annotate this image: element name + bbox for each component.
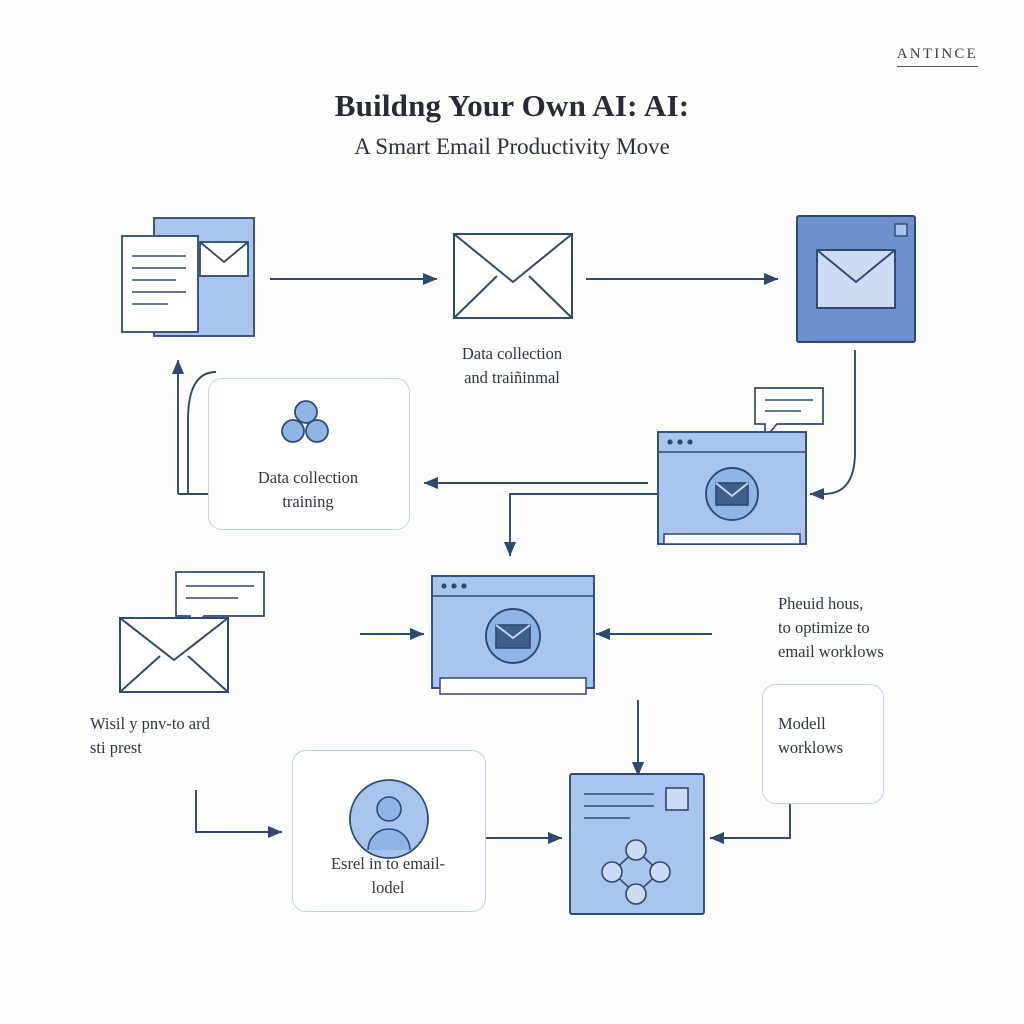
caption-predict-hours-optimize: Pheuid hous, to optimize to email worklo… bbox=[778, 592, 988, 664]
documents-stack bbox=[118, 214, 273, 349]
envelope-chat bbox=[118, 570, 266, 703]
envelope-outline-icon bbox=[452, 232, 574, 322]
browser-mail-center bbox=[430, 574, 596, 705]
caption-insert-into-email-model: Esrel in to email- lodel bbox=[296, 852, 480, 900]
caption-visually-forward: Wisil y pnv-to ard sti prest bbox=[90, 712, 300, 760]
brand-wordmark: ANTINCE bbox=[897, 46, 978, 67]
caption-model-workflows: Modell worklows bbox=[778, 712, 898, 760]
network-doc bbox=[568, 772, 706, 921]
mail-window-dark bbox=[795, 214, 917, 349]
caption-data-collection-and-training: Data collection and traiñinmal bbox=[400, 342, 624, 390]
envelope-outline bbox=[452, 232, 574, 327]
diagram-canvas: ANTINCE Buildng Your Own AI: AI: A Smart… bbox=[0, 0, 1024, 1024]
arrow-model-to-networkdoc bbox=[710, 800, 790, 838]
page-subtitle: A Smart Email Productivity Move bbox=[0, 134, 1024, 160]
browser-mail-window-center-icon bbox=[430, 574, 596, 700]
page-title: Buildng Your Own AI: AI: bbox=[0, 88, 1024, 124]
user-avatar-icon bbox=[348, 778, 430, 860]
cluster-icon-group bbox=[276, 398, 340, 455]
arrow-left-to-avatar bbox=[196, 790, 282, 832]
documents-stack-icon bbox=[118, 214, 273, 344]
browser-mail-window-right-icon bbox=[656, 430, 808, 550]
data-cluster-icon bbox=[276, 398, 340, 450]
browser-mail-right bbox=[656, 430, 808, 555]
caption-data-collection-training: Data collection training bbox=[212, 466, 404, 514]
network-document-icon bbox=[568, 772, 706, 916]
mail-window-dark-icon bbox=[795, 214, 917, 344]
envelope-with-chat-bubble-icon bbox=[118, 570, 266, 698]
